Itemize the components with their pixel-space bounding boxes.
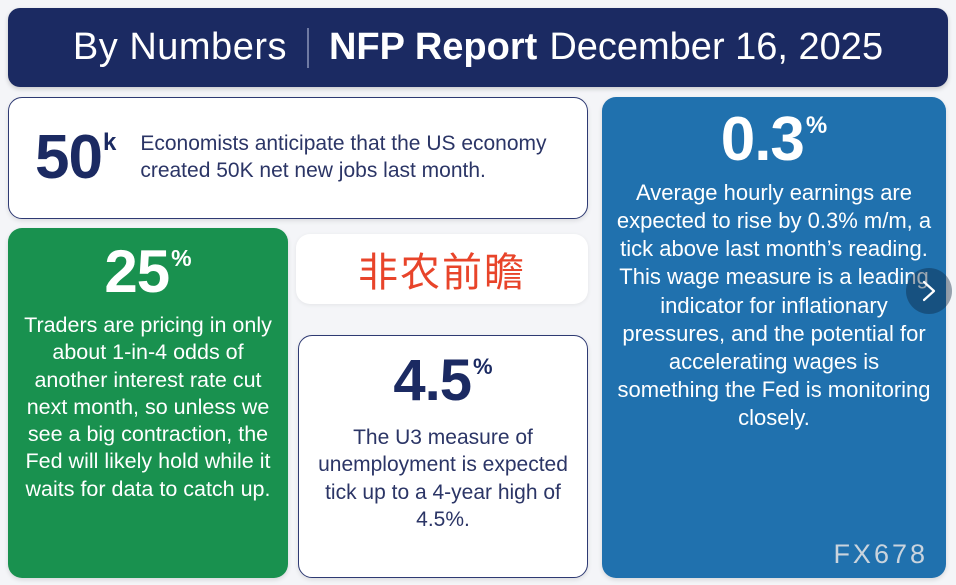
- header-by-numbers-label: By Numbers: [73, 26, 307, 69]
- stat-number-unemployment: 4.5: [393, 352, 471, 410]
- stat-number-rate-cut-odds: 25: [104, 242, 169, 302]
- stat-suffix-unemployment: %: [473, 356, 493, 378]
- header-content: By Numbers NFP Report December 16, 2025: [73, 26, 883, 69]
- stat-value-jobs: 50 k: [35, 127, 116, 189]
- header-bar: By Numbers NFP Report December 16, 2025: [8, 8, 948, 87]
- carousel-next-button[interactable]: [906, 268, 952, 314]
- infographic-root: By Numbers NFP Report December 16, 2025 …: [0, 0, 956, 585]
- stat-number-wages: 0.3: [721, 109, 804, 171]
- chinese-title-text: 非农前瞻: [358, 240, 526, 298]
- stat-value-unemployment: 4.5 %: [393, 352, 492, 410]
- stat-card-jobs: 50 k Economists anticipate that the US e…: [8, 97, 588, 219]
- stat-body-jobs: Economists anticipate that the US econom…: [140, 131, 571, 185]
- stat-value-wages: 0.3 %: [721, 109, 828, 171]
- stat-body-wages: Average hourly earnings are expected to …: [616, 179, 932, 432]
- stat-body-unemployment: The U3 measure of unemployment is expect…: [317, 424, 569, 533]
- stat-body-rate-cut-odds: Traders are pricing in only about 1-in-4…: [20, 312, 276, 503]
- stat-card-unemployment: 4.5 % The U3 measure of unemployment is …: [298, 335, 588, 578]
- stat-number-jobs: 50: [35, 127, 102, 189]
- stat-suffix-rate-cut-odds: %: [171, 247, 191, 270]
- label-card-chinese: 非农前瞻: [296, 234, 588, 304]
- header-date: December 16, 2025: [549, 26, 883, 69]
- chevron-right-icon: [918, 278, 940, 304]
- header-divider: [307, 28, 309, 68]
- stat-card-wages: 0.3 % Average hourly earnings are expect…: [602, 97, 946, 578]
- stat-suffix-jobs: k: [103, 131, 116, 155]
- stat-card-rate-cut-odds: 25 % Traders are pricing in only about 1…: [8, 228, 288, 578]
- watermark-fx678: FX678: [833, 539, 928, 570]
- stat-value-rate-cut-odds: 25 %: [104, 242, 191, 302]
- stat-suffix-wages: %: [806, 114, 827, 138]
- header-report-title: NFP Report: [329, 26, 549, 69]
